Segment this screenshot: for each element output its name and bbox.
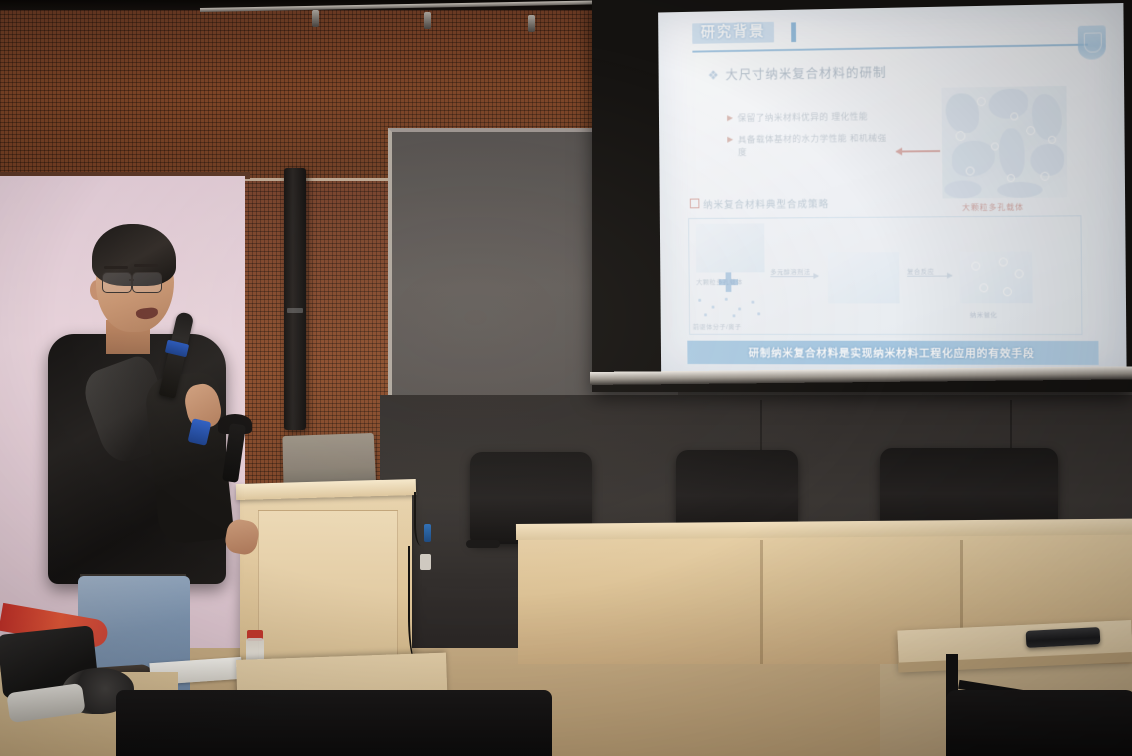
speaker-brand-logo — [287, 308, 303, 313]
arrow-bullet-icon: ▶ — [727, 134, 733, 160]
desk-panel-divider — [760, 540, 763, 664]
bullet-text: 保留了纳米材料优异的 理化性能 — [738, 111, 869, 126]
column-speaker — [284, 168, 306, 430]
flow-label-step3: 纳米催化 — [970, 309, 998, 319]
arrow-bullet-icon: ▶ — [727, 112, 733, 125]
flow-label-arrow2: 复合反应 — [907, 266, 934, 276]
title-accent-tick — [791, 22, 796, 42]
wall-outlet — [420, 554, 431, 570]
micrograph-figure — [942, 86, 1068, 199]
list-item: ▶ 具备载体基材的水力学性能 和机械强度 — [727, 132, 890, 159]
glasses-lens-right — [132, 272, 162, 293]
flow-arrow-2 — [907, 276, 952, 277]
slide-title: 研究背景 — [701, 24, 766, 41]
flow-figure-product — [960, 251, 1033, 303]
plus-icon — [719, 272, 738, 292]
title-rule — [692, 44, 1088, 53]
flow-label-step1b: 前驱体分子/离子 — [693, 321, 742, 331]
pointer-arrow-icon — [896, 150, 940, 152]
track-light-lamp — [424, 12, 431, 29]
track-light-lamp — [312, 10, 319, 27]
flow-figure-support — [696, 223, 765, 272]
slide-banner-text: 研制纳米复合材料是实现纳米材料工程化应用的有效手段 — [749, 345, 1035, 361]
flow-figure-precursor — [694, 296, 764, 320]
glasses-bridge — [129, 279, 134, 281]
list-item: ▶ 保留了纳米材料优异的 理化性能 — [727, 110, 890, 125]
flow-figure-intermediate — [828, 252, 900, 303]
foreground-chair-right — [946, 690, 1132, 756]
slide-title-band: 研究背景 — [692, 22, 774, 44]
slide-bullet-list: ▶ 保留了纳米材料优异的 理化性能 ▶ 具备载体基材的水力学性能 和机械强度 — [727, 110, 891, 168]
flow-arrow-1 — [770, 276, 818, 277]
chair-armrest — [466, 540, 500, 548]
foreground-chair-left — [116, 690, 552, 756]
lecture-hall-photo: 研究背景 ❖大尺寸纳米复合材料的研制 ▶ 保留了纳米材料优异的 理化性能 ▶ 具… — [0, 0, 1132, 756]
university-shield-logo — [1078, 25, 1106, 59]
presenter-hand-lower — [223, 517, 260, 556]
presenter-eyebrow — [104, 266, 128, 269]
glasses-lens-left — [102, 272, 132, 293]
diamond-bullet-icon: ❖ — [708, 68, 720, 83]
presentation-slide: 研究背景 ❖大尺寸纳米复合材料的研制 ▶ 保留了纳米材料优异的 理化性能 ▶ 具… — [658, 3, 1127, 373]
slide-heading-text: 大尺寸纳米复合材料的研制 — [725, 65, 886, 82]
flow-label-arrow1: 多元醇溶剂法 — [770, 266, 810, 276]
slide-heading: ❖大尺寸纳米复合材料的研制 — [708, 62, 887, 84]
figure-caption: 大颗粒多孔载体 — [962, 202, 1024, 213]
presenter-eyebrow — [134, 264, 158, 267]
slide-subheading: 纳米复合材料典型合成策略 — [703, 195, 829, 211]
bullet-text: 具备载体基材的水力学性能 和机械强度 — [738, 132, 891, 159]
slide-conclusion-banner: 研制纳米复合材料是实现纳米材料工程化应用的有效手段 — [687, 341, 1098, 365]
wall-jack — [424, 524, 431, 542]
square-bullet-icon — [690, 199, 700, 209]
track-light-lamp — [528, 15, 535, 32]
